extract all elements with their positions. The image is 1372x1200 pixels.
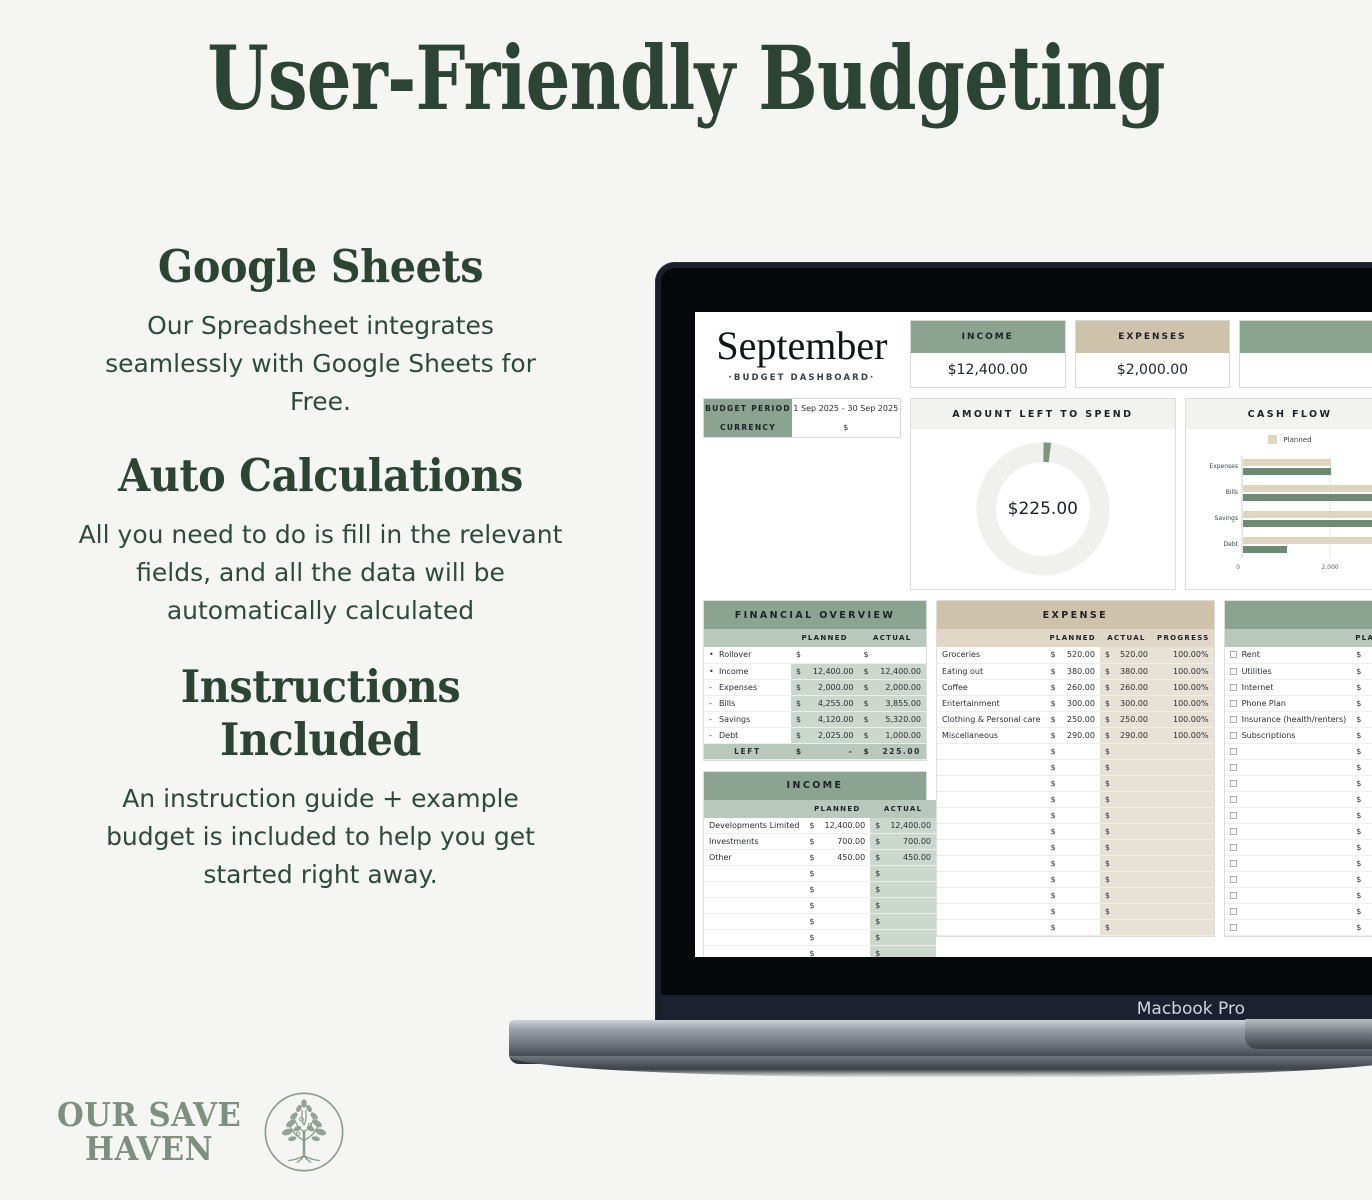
table-row[interactable]: Utilities$ [1225, 663, 1372, 679]
currency-symbol: $ [870, 898, 885, 914]
table-row-empty[interactable]: $$ [937, 903, 1214, 919]
progress-value [1153, 743, 1214, 759]
table-row-empty[interactable]: $ [1225, 775, 1372, 791]
currency-symbol: $ [1351, 679, 1372, 695]
planned-value: 260.00 [1061, 679, 1100, 695]
table-row-empty[interactable]: $ [1225, 887, 1372, 903]
currency-symbol: $ [1100, 647, 1115, 663]
table-row[interactable]: -Bills $ 4,255.00 $ 3,855.00 [704, 695, 926, 711]
brand-name-line1: OUR SAVE [57, 1098, 241, 1132]
table-row-empty[interactable]: $$ [704, 898, 936, 914]
progress-value: 100.00% [1153, 679, 1214, 695]
checkbox-icon[interactable] [1230, 892, 1237, 899]
actual-value: 5,320.00 [875, 711, 926, 727]
row-label[interactable] [1225, 791, 1352, 807]
currency-symbol: $ [1100, 711, 1115, 727]
row-label [704, 898, 804, 914]
donut-center-value: $225.00 [911, 499, 1175, 519]
currency-symbol: $ [870, 946, 885, 958]
col-blank [1225, 629, 1352, 647]
currency-symbol: $ [1351, 919, 1372, 935]
planned-value [1061, 919, 1100, 935]
currency-symbol: $ [870, 866, 885, 882]
currency-symbol: $ [1046, 647, 1061, 663]
bills-table: PLANNED Rent$Utilities$Internet$Phone Pl… [1224, 600, 1372, 937]
checkbox-icon[interactable] [1230, 716, 1237, 723]
currency-symbol: $ [870, 850, 885, 866]
kpi-card-expenses[interactable]: EXPENSES $2,000.00 [1075, 320, 1231, 388]
table-row[interactable]: -Debt $ 2,025.00 $ 1,000.00 [704, 727, 926, 743]
col-planned: PLANNED [1046, 629, 1100, 647]
currency-symbol: $ [804, 818, 819, 834]
row-label: Coffee [937, 679, 1046, 695]
table-row[interactable]: Phone Plan$ [1225, 695, 1372, 711]
table-row-empty[interactable]: $ [1225, 871, 1372, 887]
row-label [937, 919, 1046, 935]
checkbox-icon[interactable] [1230, 812, 1237, 819]
cash-flow-panel: CASH FLOW Planned 0 2,000 Expenses [1185, 398, 1372, 590]
table-row[interactable]: Insurance (health/renters)$ [1225, 711, 1372, 727]
currency-symbol: $ [1351, 695, 1372, 711]
progress-value [1153, 887, 1214, 903]
page-title: User-Friendly Budgeting [137, 34, 1235, 122]
table-header-row: PLANNED ACTUAL [704, 629, 926, 647]
table-row-empty[interactable]: $$ [937, 823, 1214, 839]
planned-value [820, 898, 871, 914]
checkbox-icon[interactable] [1230, 668, 1237, 675]
progress-value [1153, 775, 1214, 791]
currency-label: CURRENCY [704, 418, 792, 437]
dashboard-tables-row: FINANCIAL OVERVIEW PLANNED ACTUAL [703, 600, 1372, 957]
legend-label-planned: Planned [1283, 436, 1311, 444]
table-row-empty[interactable]: $$ [937, 791, 1214, 807]
row-label[interactable] [1225, 807, 1352, 823]
row-marker: • [709, 650, 719, 659]
planned-value [808, 647, 859, 663]
planned-value: 290.00 [1061, 727, 1100, 743]
currency-symbol: $ [1046, 855, 1061, 871]
planned-value [1061, 823, 1100, 839]
currency-symbol: $ [1046, 695, 1061, 711]
actual-value: 290.00 [1115, 727, 1153, 743]
amount-left-to-spend-panel: AMOUNT LEFT TO SPEND $225.00 [910, 398, 1176, 590]
col-actual: ACTUAL [870, 800, 936, 818]
planned-value: 380.00 [1061, 663, 1100, 679]
planned-value [1061, 759, 1100, 775]
currency-symbol: $ [1100, 775, 1115, 791]
table-row-empty[interactable]: $$ [937, 743, 1214, 759]
planned-value: 700.00 [820, 834, 871, 850]
budget-settings: BUDGET PERIOD 1 Sep 2025 - 30 Sep 2025 C… [703, 398, 901, 438]
currency-symbol: $ [1046, 839, 1061, 855]
device-model-label: Macbook Pro [1137, 999, 1245, 1019]
table-row[interactable]: Groceries$520.00$520.00100.00% [937, 647, 1214, 663]
currency-symbol: $ [804, 882, 819, 898]
table-row-empty[interactable]: $ [1225, 919, 1372, 935]
table-row-empty[interactable]: $ [1225, 807, 1372, 823]
col-progress: PROGRESS [1153, 629, 1214, 647]
currency-symbol: $ [870, 914, 885, 930]
row-label[interactable] [1225, 855, 1352, 871]
table-row[interactable]: •Rollover $ $ [704, 647, 926, 663]
currency-symbol: $ [1351, 871, 1372, 887]
actual-value [885, 946, 936, 958]
row-label: Investments [704, 834, 804, 850]
row-label: -Savings [704, 711, 791, 727]
panel-title: AMOUNT LEFT TO SPEND [911, 399, 1175, 429]
laptop-screen: September ·BUDGET DASHBOARD· INCOME $12,… [695, 312, 1372, 957]
table-row[interactable]: Other$450.00$450.00 [704, 850, 936, 866]
row-label [937, 775, 1046, 791]
row-label[interactable]: Insurance (health/renters) [1225, 711, 1352, 727]
table-row[interactable]: Clothing & Personal care$250.00$250.0010… [937, 711, 1214, 727]
cash-flow-svg: 0 2,000 Expenses Bills Savings Debt [1190, 446, 1372, 581]
progress-value [1153, 791, 1214, 807]
table-row[interactable]: Developments Limited$12,400.00$12,400.00 [704, 818, 936, 834]
table-row-empty[interactable]: $$ [937, 887, 1214, 903]
feature-body: Our Spreadsheet integrates seamlessly wi… [48, 307, 593, 421]
planned-value [1061, 775, 1100, 791]
currency-symbol: $ [804, 866, 819, 882]
kpi-card-income[interactable]: INCOME $12,400.00 [910, 320, 1066, 388]
currency-symbol: $ [858, 663, 875, 679]
currency-symbol: $ [791, 647, 808, 663]
currency-symbol: $ [870, 818, 885, 834]
checkbox-icon[interactable] [1230, 651, 1237, 658]
currency-symbol: $ [1100, 823, 1115, 839]
checkbox-icon[interactable] [1230, 844, 1237, 851]
planned-value: 450.00 [820, 850, 871, 866]
table-row-empty[interactable]: $$ [937, 839, 1214, 855]
planned-value: 4,120.00 [808, 711, 859, 727]
row-label: •Rollover [704, 647, 791, 663]
planned-value [1061, 807, 1100, 823]
col-blank [704, 629, 791, 647]
laptop-mockup: September ·BUDGET DASHBOARD· INCOME $12,… [655, 262, 1372, 1052]
currency-symbol: $ [1100, 903, 1115, 919]
table-row-empty[interactable]: $$ [937, 855, 1214, 871]
row-label[interactable]: Utilities [1225, 663, 1352, 679]
table-row-empty[interactable]: $$ [704, 914, 936, 930]
planned-value [1061, 855, 1100, 871]
svg-text:2,000: 2,000 [1321, 564, 1338, 571]
currency-symbol: $ [791, 663, 808, 679]
table-header-row: PLANNED ACTUAL [704, 800, 936, 818]
checkbox-icon[interactable] [1230, 780, 1237, 787]
row-label[interactable] [1225, 823, 1352, 839]
currency-symbol: $ [858, 647, 875, 663]
row-label [937, 903, 1046, 919]
budget-period-value[interactable]: 1 Sep 2025 - 30 Sep 2025 [792, 399, 900, 418]
currency-symbol: $ [804, 930, 819, 946]
feature-list: Google Sheets Our Spreadsheet integrates… [48, 240, 593, 916]
currency-symbol: $ [1100, 791, 1115, 807]
checkbox-icon[interactable] [1230, 700, 1237, 707]
row-label[interactable] [1225, 743, 1352, 759]
currency-symbol: $ [1046, 871, 1061, 887]
currency-symbol: $ [1046, 903, 1061, 919]
progress-value [1153, 839, 1214, 855]
period-end: 30 Sep 2025 [848, 404, 899, 413]
checkbox-icon[interactable] [1230, 828, 1237, 835]
currency-symbol: $ [1046, 711, 1061, 727]
table-title: FINANCIAL OVERVIEW [704, 601, 926, 629]
row-label[interactable] [1225, 839, 1352, 855]
col-actual: ACTUAL [858, 629, 926, 647]
table-header-row: PLANNED [1225, 629, 1372, 647]
currency-symbol: $ [1351, 791, 1372, 807]
planned-value [820, 882, 871, 898]
row-label [937, 823, 1046, 839]
budget-dashboard: September ·BUDGET DASHBOARD· INCOME $12,… [695, 312, 1372, 957]
row-label[interactable] [1225, 903, 1352, 919]
progress-value [1153, 807, 1214, 823]
cash-flow-chart: Planned 0 2,000 Expenses Bills [1186, 429, 1372, 589]
table-row[interactable]: Internet$ [1225, 679, 1372, 695]
row-label [937, 871, 1046, 887]
actual-value [1115, 791, 1153, 807]
kpi-label: EXPENSES [1076, 321, 1230, 353]
progress-value: 100.00% [1153, 727, 1214, 743]
laptop-base-lip [509, 1056, 1372, 1078]
row-label: Other [704, 850, 804, 866]
progress-value: 100.00% [1153, 695, 1214, 711]
actual-value [885, 898, 936, 914]
table-row[interactable]: -Savings $ 4,120.00 $ 5,320.00 [704, 711, 926, 727]
currency-symbol: $ [1351, 839, 1372, 855]
currency-symbol: $ [1046, 663, 1061, 679]
row-label [937, 839, 1046, 855]
checkbox-icon[interactable] [1230, 796, 1237, 803]
actual-value [885, 914, 936, 930]
currency-symbol: $ [1351, 663, 1372, 679]
actual-value [1115, 839, 1153, 855]
table-row-empty[interactable]: $$ [937, 759, 1214, 775]
row-label: Developments Limited [704, 818, 804, 834]
table-row-empty[interactable]: $$ [704, 866, 936, 882]
laptop-base-notch [1245, 1019, 1372, 1049]
table-row-empty[interactable]: $$ [937, 871, 1214, 887]
col-planned: PLANNED [1351, 629, 1372, 647]
kpi-label: INCOME [911, 321, 1065, 353]
feature-body: An instruction guide + example budget is… [48, 780, 593, 894]
table-row-empty[interactable]: $ [1225, 759, 1372, 775]
currency-symbol: $ [1046, 919, 1061, 935]
kpi-card-third[interactable] [1239, 320, 1372, 388]
row-label: •Income [704, 663, 791, 679]
feature-google-sheets: Google Sheets Our Spreadsheet integrates… [48, 240, 593, 421]
progress-value [1153, 871, 1214, 887]
row-label [937, 887, 1046, 903]
period-separator: - [842, 404, 845, 413]
actual-value: 450.00 [885, 850, 936, 866]
brand-name-line2: HAVEN [57, 1132, 241, 1166]
row-label[interactable] [1225, 871, 1352, 887]
table-footer-row: LEFT $ - $ 225.00 [704, 743, 926, 759]
table-row[interactable]: Coffee$260.00$260.00100.00% [937, 679, 1214, 695]
table-row-empty[interactable]: $$ [937, 919, 1214, 935]
planned-value: 12,400.00 [820, 818, 871, 834]
planned-value [1061, 903, 1100, 919]
donut-chart: $225.00 [911, 429, 1175, 589]
currency-symbol: $ [1100, 871, 1115, 887]
progress-value: 100.00% [1153, 711, 1214, 727]
budget-period-row[interactable]: BUDGET PERIOD 1 Sep 2025 - 30 Sep 2025 [704, 399, 900, 418]
expense-rows: Groceries$520.00$520.00100.00%Eating out… [937, 647, 1214, 935]
feature-body: All you need to do is fill in the releva… [48, 516, 593, 630]
table-row[interactable]: Investments$700.00$700.00 [704, 834, 936, 850]
dashboard-subtitle: ·BUDGET DASHBOARD· [703, 373, 901, 383]
actual-value [1115, 759, 1153, 775]
row-label: Clothing & Personal care [937, 711, 1046, 727]
bills-rows: Rent$Utilities$Internet$Phone Plan$Insur… [1225, 647, 1372, 935]
checkbox-icon[interactable] [1230, 924, 1237, 931]
currency-symbol: $ [1351, 759, 1372, 775]
table-row[interactable]: •Income $ 12,400.00 $ 12,400.00 [704, 663, 926, 679]
currency-symbol: $ [804, 914, 819, 930]
row-label[interactable]: Internet [1225, 679, 1352, 695]
progress-value [1153, 823, 1214, 839]
currency-symbol: $ [1046, 743, 1061, 759]
actual-value: 520.00 [1115, 647, 1153, 663]
planned-value [820, 930, 871, 946]
table-row[interactable]: -Expenses $ 2,000.00 $ 2,000.00 [704, 679, 926, 695]
planned-value [820, 866, 871, 882]
currency-symbol: $ [1100, 807, 1115, 823]
row-label [937, 807, 1046, 823]
row-label: -Bills [704, 695, 791, 711]
checkbox-icon[interactable] [1230, 908, 1237, 915]
feature-title: Google Sheets [70, 240, 571, 293]
actual-value [1115, 743, 1153, 759]
actual-value [1115, 855, 1153, 871]
actual-value: 700.00 [885, 834, 936, 850]
table-title: INCOME [704, 772, 926, 800]
planned-value [1061, 839, 1100, 855]
currency-symbol: $ [804, 850, 819, 866]
row-label[interactable] [1225, 759, 1352, 775]
currency-symbol: $ [1100, 663, 1115, 679]
table-row-empty[interactable]: $ [1225, 839, 1372, 855]
planned-value: 2,025.00 [808, 727, 859, 743]
actual-value [885, 930, 936, 946]
feature-title: Instructions Included [70, 660, 571, 766]
currency-symbol: $ [1351, 903, 1372, 919]
row-label [704, 866, 804, 882]
actual-value: 250.00 [1115, 711, 1153, 727]
progress-value [1153, 919, 1214, 935]
table-title: EXPENSE [937, 601, 1214, 629]
actual-value: 1,000.00 [875, 727, 926, 743]
financial-overview-table: FINANCIAL OVERVIEW PLANNED ACTUAL [703, 600, 927, 761]
table-row-empty[interactable]: $$ [704, 930, 936, 946]
table-row[interactable]: Subscriptions$ [1225, 727, 1372, 743]
actual-value: 260.00 [1115, 679, 1153, 695]
checkbox-icon[interactable] [1230, 876, 1237, 883]
svg-text:Expenses: Expenses [1209, 463, 1238, 470]
checkbox-icon[interactable] [1230, 860, 1237, 867]
table-row[interactable]: Entertainment$300.00$300.00100.00% [937, 695, 1214, 711]
expense-table: EXPENSE PLANNED ACTUAL PROGRESS Grocerie… [936, 600, 1215, 937]
svg-text:Debt: Debt [1224, 541, 1239, 548]
brand-logo: OUR SAVE HAVEN [50, 1090, 346, 1174]
table-row-empty[interactable]: $$ [937, 807, 1214, 823]
currency-symbol: $ [1100, 839, 1115, 855]
currency-row[interactable]: CURRENCY $ [704, 418, 900, 437]
table-row-empty[interactable]: $ [1225, 855, 1372, 871]
currency-symbol: $ [1351, 823, 1372, 839]
actual-value: 2,000.00 [875, 679, 926, 695]
planned-value: 2,000.00 [808, 679, 859, 695]
table-row[interactable]: Miscellaneous$290.00$290.00100.00% [937, 727, 1214, 743]
currency-symbol: $ [1351, 855, 1372, 871]
row-label[interactable] [1225, 887, 1352, 903]
actual-value [1115, 871, 1153, 887]
currency-symbol: $ [1046, 727, 1061, 743]
table-row[interactable]: Eating out$380.00$380.00100.00% [937, 663, 1214, 679]
table-row-empty[interactable]: $ [1225, 743, 1372, 759]
actual-value: 3,855.00 [875, 695, 926, 711]
currency-symbol: $ [1351, 887, 1372, 903]
planned-value [1061, 887, 1100, 903]
table-row-empty[interactable]: $$ [937, 775, 1214, 791]
col-blank [704, 800, 804, 818]
currency-symbol: $ [1046, 823, 1061, 839]
planned-value [1061, 871, 1100, 887]
table-header-row: PLANNED ACTUAL PROGRESS [937, 629, 1214, 647]
row-label[interactable] [1225, 919, 1352, 935]
row-label[interactable]: Rent [1225, 647, 1352, 663]
table-row-empty[interactable]: $ [1225, 903, 1372, 919]
currency-symbol: $ [1046, 679, 1061, 695]
checkbox-icon[interactable] [1230, 732, 1237, 739]
row-label[interactable]: Subscriptions [1225, 727, 1352, 743]
planned-value [820, 946, 871, 958]
row-label: Miscellaneous [937, 727, 1046, 743]
table-row[interactable]: Rent$ [1225, 647, 1372, 663]
currency-symbol: $ [1046, 807, 1061, 823]
feature-title: Auto Calculations [70, 449, 571, 502]
row-label[interactable]: Phone Plan [1225, 695, 1352, 711]
table-row-empty[interactable]: $ [1225, 823, 1372, 839]
planned-value [1061, 791, 1100, 807]
currency-symbol: $ [870, 930, 885, 946]
panel-title: CASH FLOW [1186, 399, 1372, 429]
footer-actual: 225.00 [875, 743, 926, 759]
checkbox-icon[interactable] [1230, 748, 1237, 755]
legend-swatch-planned [1268, 435, 1277, 444]
planned-value: 300.00 [1061, 695, 1100, 711]
row-label: Eating out [937, 663, 1046, 679]
actual-value [1115, 807, 1153, 823]
currency-symbol: $ [804, 898, 819, 914]
table-title [1225, 601, 1372, 629]
row-label: Groceries [937, 647, 1046, 663]
table-row-empty[interactable]: $ [1225, 791, 1372, 807]
checkbox-icon[interactable] [1230, 684, 1237, 691]
table-row-empty[interactable]: $$ [704, 946, 936, 958]
dashboard-header-row: September ·BUDGET DASHBOARD· INCOME $12,… [703, 320, 1372, 388]
planned-value: 520.00 [1061, 647, 1100, 663]
row-label[interactable] [1225, 775, 1352, 791]
income-rows: Developments Limited$12,400.00$12,400.00… [704, 818, 936, 958]
col-actual: ACTUAL [1100, 629, 1153, 647]
row-label [704, 914, 804, 930]
checkbox-icon[interactable] [1230, 764, 1237, 771]
currency-symbol: $ [1351, 775, 1372, 791]
table-row-empty[interactable]: $$ [704, 882, 936, 898]
currency-symbol: $ [804, 946, 819, 958]
